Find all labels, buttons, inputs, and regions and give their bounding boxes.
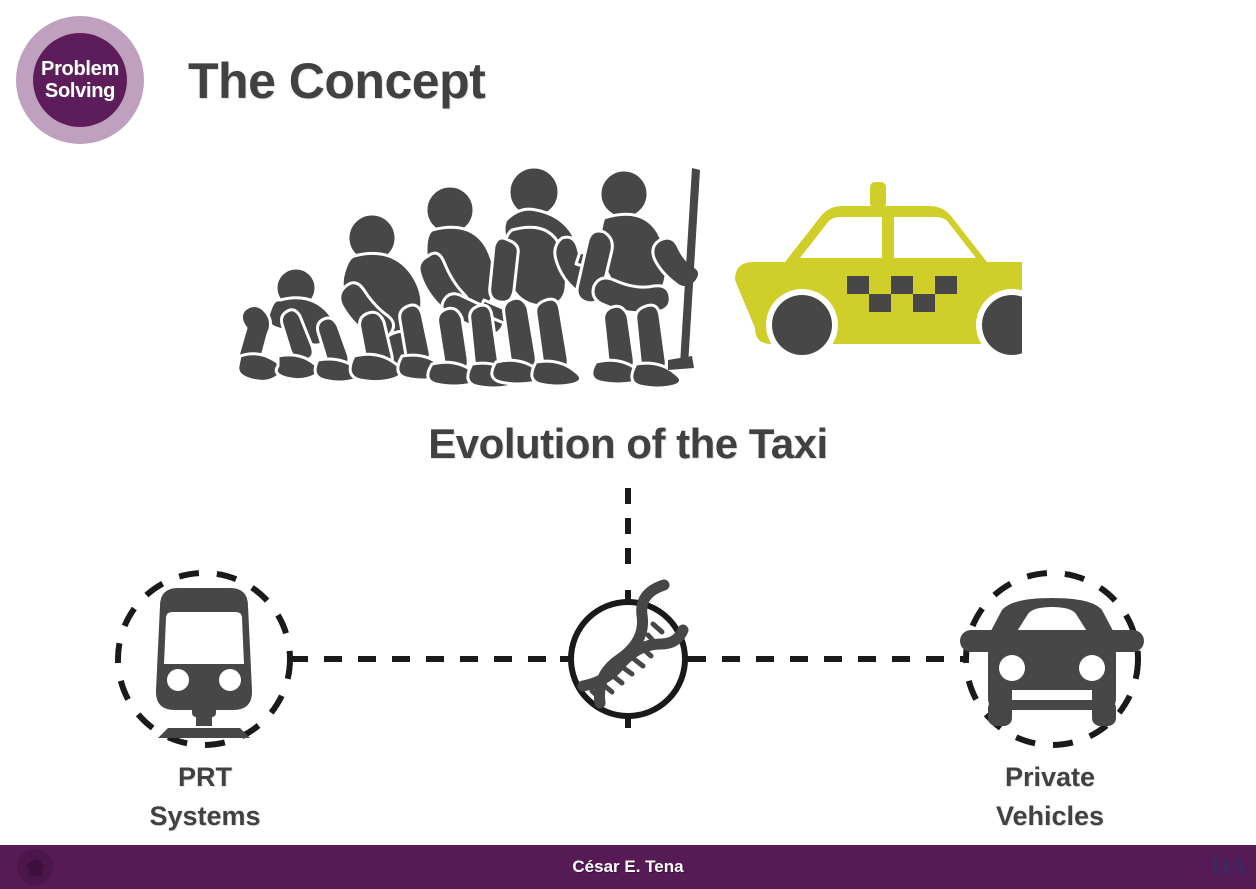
label-prt-systems: PRT Systems [105, 758, 305, 836]
home-icon [24, 857, 46, 877]
da-logo: DA [1210, 852, 1246, 882]
node-private-vehicles [960, 573, 1144, 745]
badge-label-line1: Problem [41, 58, 119, 80]
taxi-icon [735, 182, 1022, 361]
evolution-illustration [222, 160, 1022, 390]
problem-solving-badge: Problem Solving [16, 16, 144, 144]
home-button[interactable] [17, 849, 53, 885]
node-dna [560, 585, 696, 728]
slide: Problem Solving The Concept [0, 0, 1256, 889]
label-private-vehicles-line1: Private [950, 758, 1150, 797]
car-front-icon [960, 598, 1144, 726]
taxi-wheel-front [772, 295, 832, 355]
page-title: The Concept [188, 52, 485, 110]
tram-icon [156, 588, 252, 738]
label-private-vehicles-line2: Vehicles [950, 797, 1150, 836]
badge-label-line2: Solving [45, 80, 115, 102]
badge-inner-circle: Problem Solving [33, 33, 127, 127]
illustration-caption: Evolution of the Taxi [0, 420, 1256, 468]
footer-bar: César E. Tena DA [0, 845, 1256, 889]
label-private-vehicles: Private Vehicles [950, 758, 1150, 836]
label-prt-systems-line1: PRT [105, 758, 305, 797]
evolution-figures [237, 167, 700, 388]
node-prt-systems [118, 573, 290, 745]
footer-author: César E. Tena [572, 857, 683, 877]
label-prt-systems-line2: Systems [105, 797, 305, 836]
